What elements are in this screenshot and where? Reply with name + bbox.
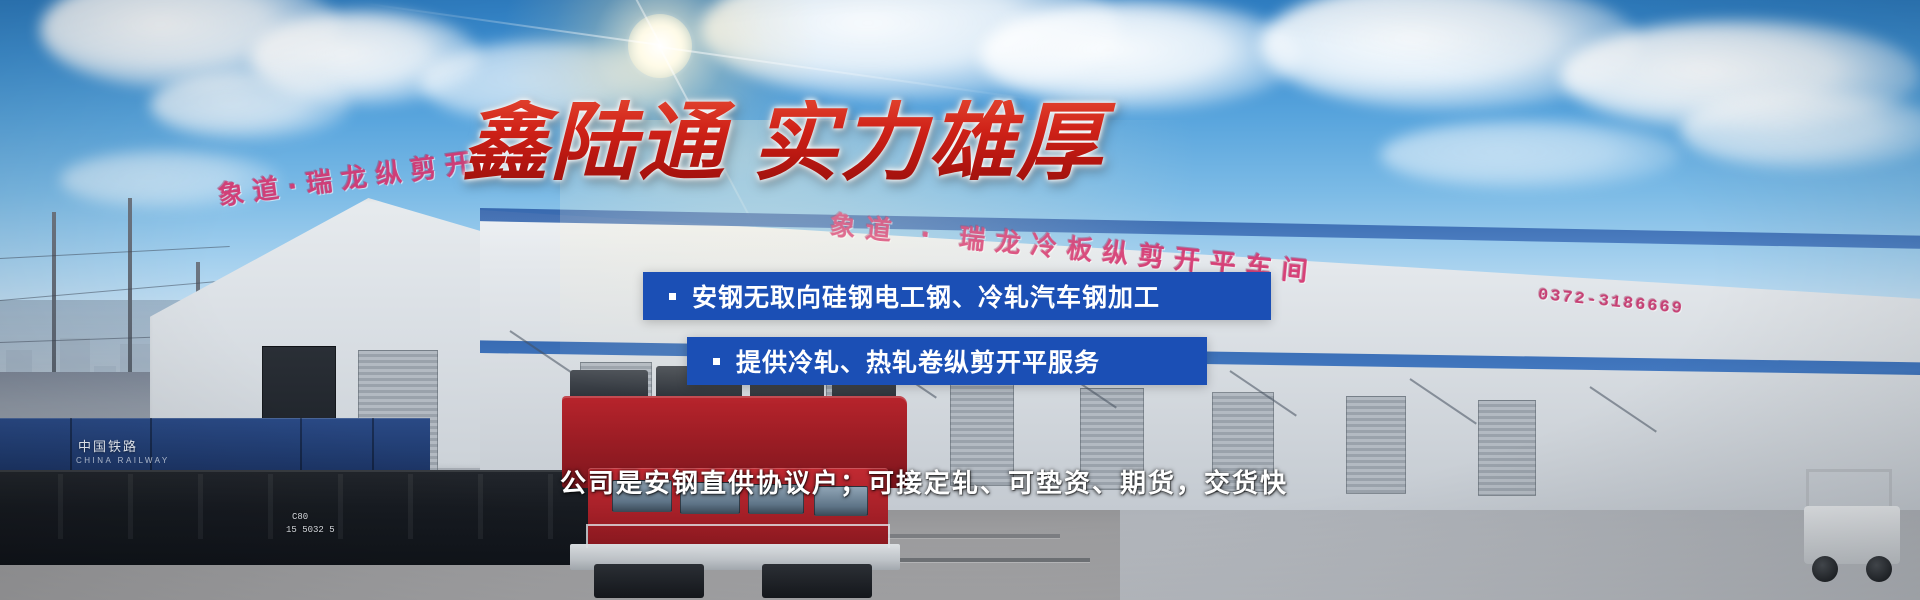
feature-callout-2-label: 提供冷轧、热轧卷纵剪开平服务 (736, 343, 1100, 379)
square-bullet-icon (713, 358, 720, 365)
banner-tagline: 公司是安钢直供协议户；可接定轧、可垫资、期货，交货快 (560, 463, 1288, 500)
feature-callout-1: 安钢无取向硅钢电工钢、冷轧汽车钢加工 (643, 272, 1271, 320)
square-bullet-icon (669, 293, 676, 300)
container-logo-en: CHINA RAILWAY (76, 456, 170, 465)
headline-brand: 鑫陆通 (462, 93, 726, 193)
gondola-freight-cars: C80 15 5032 5 (0, 470, 600, 565)
freight-car-mark-line1: C80 (292, 512, 308, 523)
page-title: 鑫陆通实力雄厚 (462, 100, 1162, 186)
freight-car-mark-line2: 15 5032 5 (286, 525, 335, 536)
headline-slogan: 实力雄厚 (752, 93, 1104, 193)
hero-banner: 象道·瑞龙纵剪开 象道 · 瑞龙冷板纵剪开平车间 0372-3186669 中国… (0, 0, 1920, 600)
feature-callout-1-label: 安钢无取向硅钢电工钢、冷轧汽车钢加工 (692, 278, 1160, 314)
container-logo-cn: 中国铁路 (78, 436, 138, 455)
feature-callout-2: 提供冷轧、热轧卷纵剪开平服务 (687, 337, 1207, 385)
